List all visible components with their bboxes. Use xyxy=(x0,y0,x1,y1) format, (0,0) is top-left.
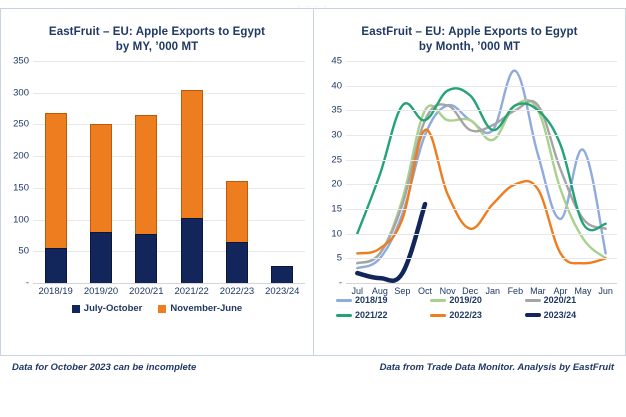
left-y-tick-label: 150 xyxy=(13,182,29,193)
legend-item[interactable]: 2018/19 xyxy=(328,295,422,305)
left-x-tick-label: 2022/23 xyxy=(219,286,255,297)
right-gridline xyxy=(346,209,617,210)
right-y-tick-label: 20 xyxy=(331,179,342,190)
bar-segment-july-october[interactable] xyxy=(226,242,248,283)
right-footnote: Data from Trade Data Monitor. Analysis b… xyxy=(380,362,614,373)
right-gridline xyxy=(346,86,617,87)
right-gridline xyxy=(346,184,617,185)
left-chart-x-axis: 2018/192019/202020/212021/222022/232023/… xyxy=(33,286,305,297)
left-chart-title: EastFruit – EU: Apple Exports to Egypt b… xyxy=(1,9,313,55)
left-y-tick-label: 200 xyxy=(13,151,29,162)
legend-item[interactable]: 2023/24 xyxy=(517,310,611,320)
legend-swatch-icon xyxy=(158,305,166,313)
legend-item-label: July-October xyxy=(84,303,143,314)
left-x-tick-label: 2020/21 xyxy=(128,286,164,297)
right-y-tick-label: 35 xyxy=(331,105,342,116)
legend-swatch-icon xyxy=(72,305,80,313)
right-y-tick-label: 10 xyxy=(331,228,342,239)
right-chart-gridlines xyxy=(346,61,617,283)
right-x-tick-label: Sep xyxy=(391,286,413,296)
bar-segment-july-october[interactable] xyxy=(135,234,157,283)
left-chart-title-line1: EastFruit – EU: Apple Exports to Egypt xyxy=(49,26,265,38)
bar-segment-november-june[interactable] xyxy=(90,124,112,232)
right-x-tick-label: Jun xyxy=(595,286,617,296)
right-axis-line xyxy=(346,283,617,284)
left-chart-y-axis: -50100150200250300350 xyxy=(1,61,31,283)
left-axis-line xyxy=(33,283,305,284)
right-chart-title: EastFruit – EU: Apple Exports to Egypt b… xyxy=(314,9,625,55)
left-y-tick-label: 100 xyxy=(13,214,29,225)
right-x-tick-label: Oct xyxy=(414,286,436,296)
legend-line-icon xyxy=(336,299,352,302)
right-chart-title-line2: by Month, ’000 MT xyxy=(314,40,625,55)
right-x-tick-label: Aug xyxy=(369,286,391,296)
bar-segment-july-october[interactable] xyxy=(45,248,67,283)
bar-segment-july-october[interactable] xyxy=(90,232,112,283)
left-x-tick-label: 2018/19 xyxy=(38,286,74,297)
bar-segment-november-june[interactable] xyxy=(226,181,248,242)
left-x-tick-label: 2021/22 xyxy=(174,286,210,297)
left-x-tick-label: 2019/20 xyxy=(83,286,119,297)
legend-item[interactable]: 2022/23 xyxy=(422,310,516,320)
bar-column[interactable] xyxy=(271,61,293,283)
legend-item[interactable]: November-June xyxy=(158,303,242,314)
right-x-tick-label: Jul xyxy=(346,286,368,296)
right-x-tick-label: Dec xyxy=(459,286,481,296)
legend-line-icon xyxy=(430,314,446,317)
legend-item-label: 2020/21 xyxy=(544,295,577,305)
right-x-tick-label: Jan xyxy=(482,286,504,296)
legend-item[interactable]: 2020/21 xyxy=(517,295,611,305)
right-chart-title-line1: EastFruit – EU: Apple Exports to Egypt xyxy=(361,26,577,38)
legend-line-icon xyxy=(525,299,541,302)
legend-item[interactable]: July-October xyxy=(72,303,143,314)
bar-segment-november-june[interactable] xyxy=(45,113,67,248)
left-x-tick-label: 2023/24 xyxy=(264,286,300,297)
legend-item-label: 2021/22 xyxy=(355,310,388,320)
bar-column[interactable] xyxy=(181,61,203,283)
right-x-tick-label: Mar xyxy=(527,286,549,296)
right-chart-lines xyxy=(346,61,617,283)
legend-line-icon xyxy=(336,314,352,317)
bar-segment-july-october[interactable] xyxy=(271,266,293,283)
legend-item-label: November-June xyxy=(170,303,242,314)
legend-line-icon xyxy=(430,299,446,302)
bar-segment-november-june[interactable] xyxy=(181,90,203,217)
legend-item-label: 2022/23 xyxy=(449,310,482,320)
left-y-tick-label: 50 xyxy=(18,246,29,257)
left-y-tick-label: - xyxy=(26,278,29,289)
legend-item-label: 2019/20 xyxy=(449,295,482,305)
right-chart-panel: EastFruit – EU: Apple Exports to Egypt b… xyxy=(313,8,626,356)
right-x-tick-label: Apr xyxy=(549,286,571,296)
right-y-tick-label: 45 xyxy=(331,56,342,67)
bar-column[interactable] xyxy=(226,61,248,283)
right-x-tick-label: Feb xyxy=(504,286,526,296)
legend-line-icon xyxy=(525,313,541,317)
bar-column[interactable] xyxy=(45,61,67,283)
left-y-tick-label: 250 xyxy=(13,119,29,130)
right-y-tick-label: 30 xyxy=(331,130,342,141)
right-x-tick-label: Nov xyxy=(437,286,459,296)
left-chart-gridlines xyxy=(33,61,305,283)
right-gridline xyxy=(346,110,617,111)
right-y-tick-label: 15 xyxy=(331,204,342,215)
right-gridline xyxy=(346,160,617,161)
legend-item-label: 2023/24 xyxy=(544,310,577,320)
right-gridline xyxy=(346,61,617,62)
right-chart-y-axis: -51015202530354045 xyxy=(314,61,344,283)
right-y-tick-label: - xyxy=(339,278,342,289)
bar-column[interactable] xyxy=(135,61,157,283)
left-chart-bars xyxy=(33,61,305,283)
right-gridline xyxy=(346,234,617,235)
left-y-tick-label: 350 xyxy=(13,56,29,67)
right-gridline xyxy=(346,135,617,136)
right-y-tick-label: 5 xyxy=(337,253,342,264)
legend-item[interactable]: 2021/22 xyxy=(328,310,422,320)
left-footnote: Data for October 2023 can be incomplete xyxy=(12,362,196,373)
bar-segment-november-june[interactable] xyxy=(135,115,157,234)
bar-segment-july-october[interactable] xyxy=(181,218,203,283)
right-gridline xyxy=(346,258,617,259)
right-chart-legend: 2018/192019/202020/212021/222022/232023/… xyxy=(314,295,625,320)
legend-item[interactable]: 2019/20 xyxy=(422,295,516,305)
charts-container: EastFruit – EU: Apple Exports to Egypt b… xyxy=(0,8,626,356)
left-chart-panel: EastFruit – EU: Apple Exports to Egypt b… xyxy=(0,8,313,356)
left-chart-plot-area: -50100150200250300350 xyxy=(1,61,313,283)
footnotes: Data for October 2023 can be incomplete … xyxy=(0,362,626,373)
left-y-tick-label: 300 xyxy=(13,87,29,98)
right-chart-x-axis: JulAugSepOctNovDecJanFebMarAprMayJun xyxy=(346,286,617,296)
right-chart-plot-area: -51015202530354045 xyxy=(314,61,625,283)
right-y-tick-label: 25 xyxy=(331,154,342,165)
bar-column[interactable] xyxy=(90,61,112,283)
left-chart-title-line2: by MY, ’000 MT xyxy=(1,40,313,55)
right-x-tick-label: May xyxy=(572,286,594,296)
legend-item-label: 2018/19 xyxy=(355,295,388,305)
right-y-tick-label: 40 xyxy=(331,80,342,91)
left-chart-legend: July-OctoberNovember-June xyxy=(1,303,313,314)
